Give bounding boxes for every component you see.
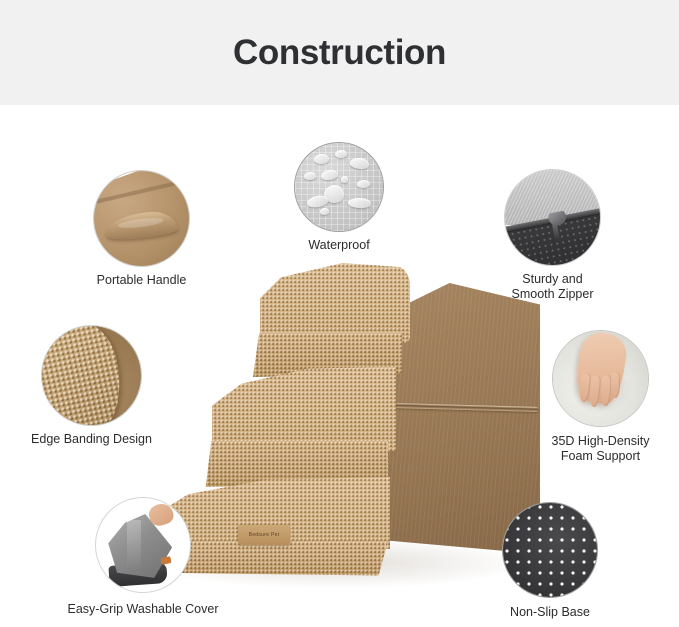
- callout-non-slip-base-label: Non-Slip Base: [510, 605, 590, 620]
- callout-washable-cover-label: Easy-Grip Washable Cover: [68, 602, 219, 617]
- callout-waterproof-label: Waterproof: [308, 238, 369, 253]
- hand-pressing-foam-icon: [552, 330, 649, 427]
- product-step-3-tread: [260, 263, 410, 343]
- callout-foam-label-line2: Foam Support: [552, 449, 650, 464]
- callout-foam-label-line1: 35D High-Density: [552, 434, 650, 449]
- product-illustration: Bedsure Pet: [150, 245, 540, 585]
- callout-edge-banding-design[interactable]: Edge Banding Design: [41, 325, 142, 426]
- water-droplets-icon: [294, 142, 384, 232]
- callout-easy-grip-washable-cover[interactable]: Easy-Grip Washable Cover: [95, 497, 191, 593]
- dotted-grip-base-icon: [502, 502, 598, 598]
- edge-banding-icon: [41, 325, 142, 426]
- zipper-icon: [504, 169, 601, 266]
- product-step-2-tread: [212, 367, 396, 451]
- callout-non-slip-base[interactable]: Non-Slip Base: [502, 502, 598, 598]
- callout-foam-support[interactable]: 35D High-Density Foam Support: [552, 330, 649, 427]
- callout-zipper-label-line2: Smooth Zipper: [512, 287, 594, 302]
- header-band: Construction: [0, 0, 679, 105]
- callout-sturdy-smooth-zipper[interactable]: Sturdy and Smooth Zipper: [504, 169, 601, 266]
- product-brand-tag: Bedsure Pet: [238, 525, 290, 545]
- callout-portable-handle-label: Portable Handle: [97, 273, 187, 288]
- hand-lifting-cover-icon: [95, 497, 191, 593]
- fabric-handle-strap-icon: [93, 170, 190, 267]
- callout-zipper-label-line1: Sturdy and: [512, 272, 594, 287]
- callout-waterproof[interactable]: Waterproof: [294, 142, 384, 232]
- callout-portable-handle[interactable]: Portable Handle: [93, 170, 190, 267]
- callout-edge-banding-label: Edge Banding Design: [31, 432, 152, 447]
- construction-infographic: Construction Bedsure Pet Portable Handle: [0, 0, 679, 627]
- page-title: Construction: [0, 33, 679, 73]
